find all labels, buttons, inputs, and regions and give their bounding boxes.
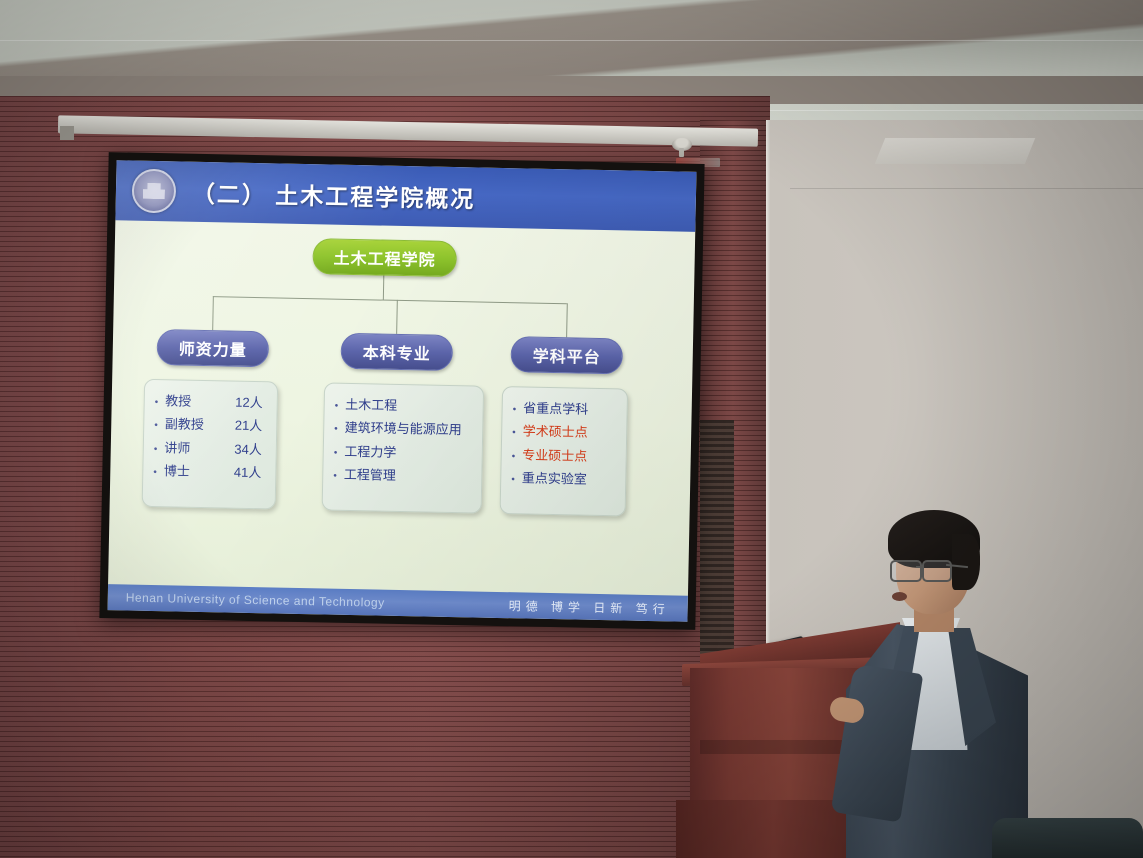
connector-root-stem (383, 274, 385, 300)
connector-horizontal (213, 296, 567, 304)
wall-seam (790, 188, 1143, 189)
faculty-list: •教授12人 •副教授21人 •讲师34人 •博士41人 (153, 394, 267, 480)
org-chart: 土木工程学院 师资力量 本科专业 学科平台 •教授12人 •副教授21人 •讲师… (109, 220, 696, 562)
projection-screen: （二） 土木工程学院概况 土木工程学院 师资力量 本科专业 学科平台 •教授12… (99, 152, 704, 630)
list-item: •教授12人 (155, 394, 267, 411)
bullet-dot-icon: • (512, 428, 516, 439)
org-root-node: 土木工程学院 (312, 238, 457, 277)
bullet-dot-icon: • (154, 420, 158, 431)
chair (992, 818, 1143, 858)
faculty-card: •教授12人 •副教授21人 •讲师34人 •博士41人 (142, 379, 279, 510)
bullet-dot-icon: • (334, 447, 338, 458)
platform-card: •省重点学科 •学术硕士点 •专业硕士点 •重点实验室 (500, 386, 629, 517)
bullet-dot-icon: • (512, 451, 516, 462)
slide: （二） 土木工程学院概况 土木工程学院 师资力量 本科专业 学科平台 •教授12… (108, 160, 697, 622)
presenter-hair-side (952, 534, 980, 590)
org-branch-faculty: 师资力量 (156, 329, 269, 367)
presenter (836, 508, 1066, 858)
list-item: •省重点学科 (513, 401, 617, 417)
glasses-bridge (916, 566, 924, 568)
list-item: •土木工程 (335, 398, 473, 415)
list-item: •工程力学 (334, 444, 472, 461)
seal-glyph (143, 183, 165, 199)
platform-list: •省重点学科 •学术硕士点 •专业硕士点 •重点实验室 (511, 401, 617, 487)
connector-branch-1 (212, 296, 214, 330)
list-item: •工程管理 (333, 468, 471, 485)
footer-motto: 明德 博学 日新 笃行 (509, 597, 670, 617)
bullet-dot-icon: • (333, 471, 337, 482)
list-item: •副教授21人 (154, 417, 266, 434)
list-item: •博士41人 (153, 464, 265, 481)
list-item: •学术硕士点 (512, 425, 616, 441)
majors-list: •土木工程 •建筑环境与能源应用 •工程力学 •工程管理 (333, 398, 473, 485)
list-item: •讲师34人 (154, 441, 266, 458)
footer-university-name: Henan University of Science and Technolo… (126, 590, 385, 609)
glasses-icon (890, 560, 922, 582)
connector-branch-2 (396, 300, 398, 334)
org-branch-majors: 本科专业 (340, 333, 453, 371)
bullet-dot-icon: • (154, 444, 158, 455)
presenter-mouth (892, 592, 907, 601)
page-title: （二） 土木工程学院概况 (192, 175, 476, 215)
sprinkler-stem (679, 148, 684, 157)
connector-branch-3 (566, 303, 568, 337)
majors-card: •土木工程 •建筑环境与能源应用 •工程力学 •工程管理 (322, 382, 485, 513)
university-seal-icon (132, 169, 177, 214)
ceiling-vent (875, 138, 1036, 164)
bullet-dot-icon: • (513, 404, 517, 415)
bullet-dot-icon: • (511, 474, 515, 485)
org-branch-platform: 学科平台 (510, 336, 623, 374)
lecture-hall-photo: （二） 土木工程学院概况 土木工程学院 师资力量 本科专业 学科平台 •教授12… (0, 0, 1143, 858)
list-item: •专业硕士点 (512, 448, 616, 464)
screen-housing-bracket (60, 126, 74, 140)
list-item: •重点实验室 (511, 471, 615, 487)
slide-footer: Henan University of Science and Technolo… (108, 584, 688, 622)
ceiling-seam (0, 40, 1143, 41)
bullet-dot-icon: • (334, 424, 338, 435)
bullet-dot-icon: • (155, 397, 159, 408)
bullet-dot-icon: • (335, 401, 339, 412)
bullet-dot-icon: • (153, 467, 157, 478)
list-item: •建筑环境与能源应用 (334, 421, 472, 438)
